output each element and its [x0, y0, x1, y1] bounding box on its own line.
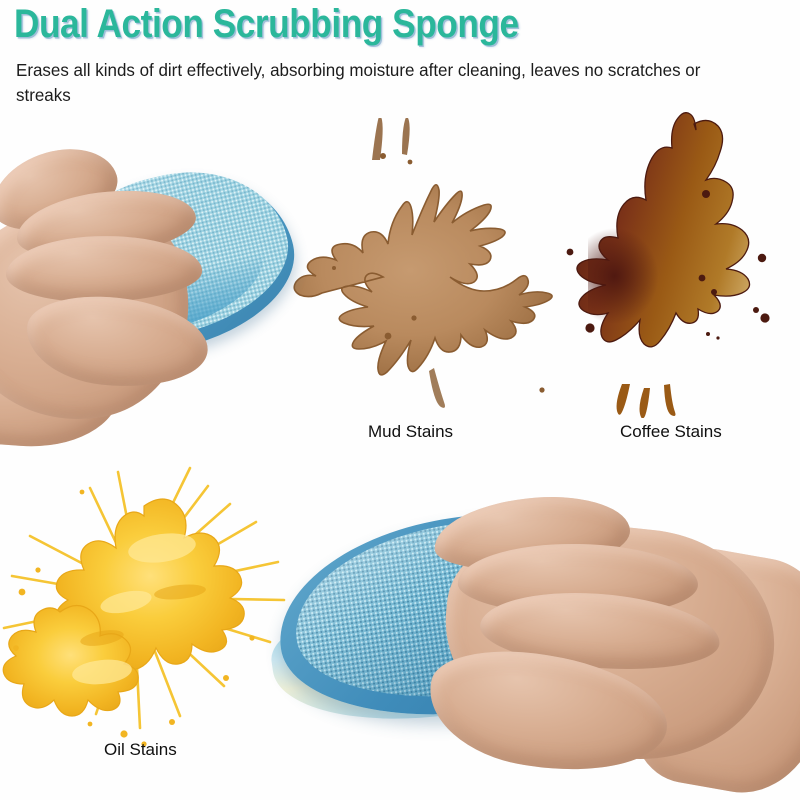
- page-title: Dual Action Scrubbing Sponge: [14, 2, 519, 46]
- mud-stain-image: [282, 118, 582, 414]
- stain-label-coffee: Coffee Stains: [620, 422, 722, 442]
- stain-label-oil: Oil Stains: [104, 740, 177, 760]
- product-marketing-image: Dual Action Scrubbing Sponge Erases all …: [0, 0, 800, 800]
- page-subtitle: Erases all kinds of dirt effectively, ab…: [16, 58, 753, 108]
- sponge-in-hand-bottom-right: [268, 490, 800, 800]
- oil-stain-image: [0, 452, 300, 752]
- sponge-in-hand-top-left: [0, 150, 300, 440]
- coffee-stain-image: [566, 112, 800, 418]
- stain-label-mud: Mud Stains: [368, 422, 453, 442]
